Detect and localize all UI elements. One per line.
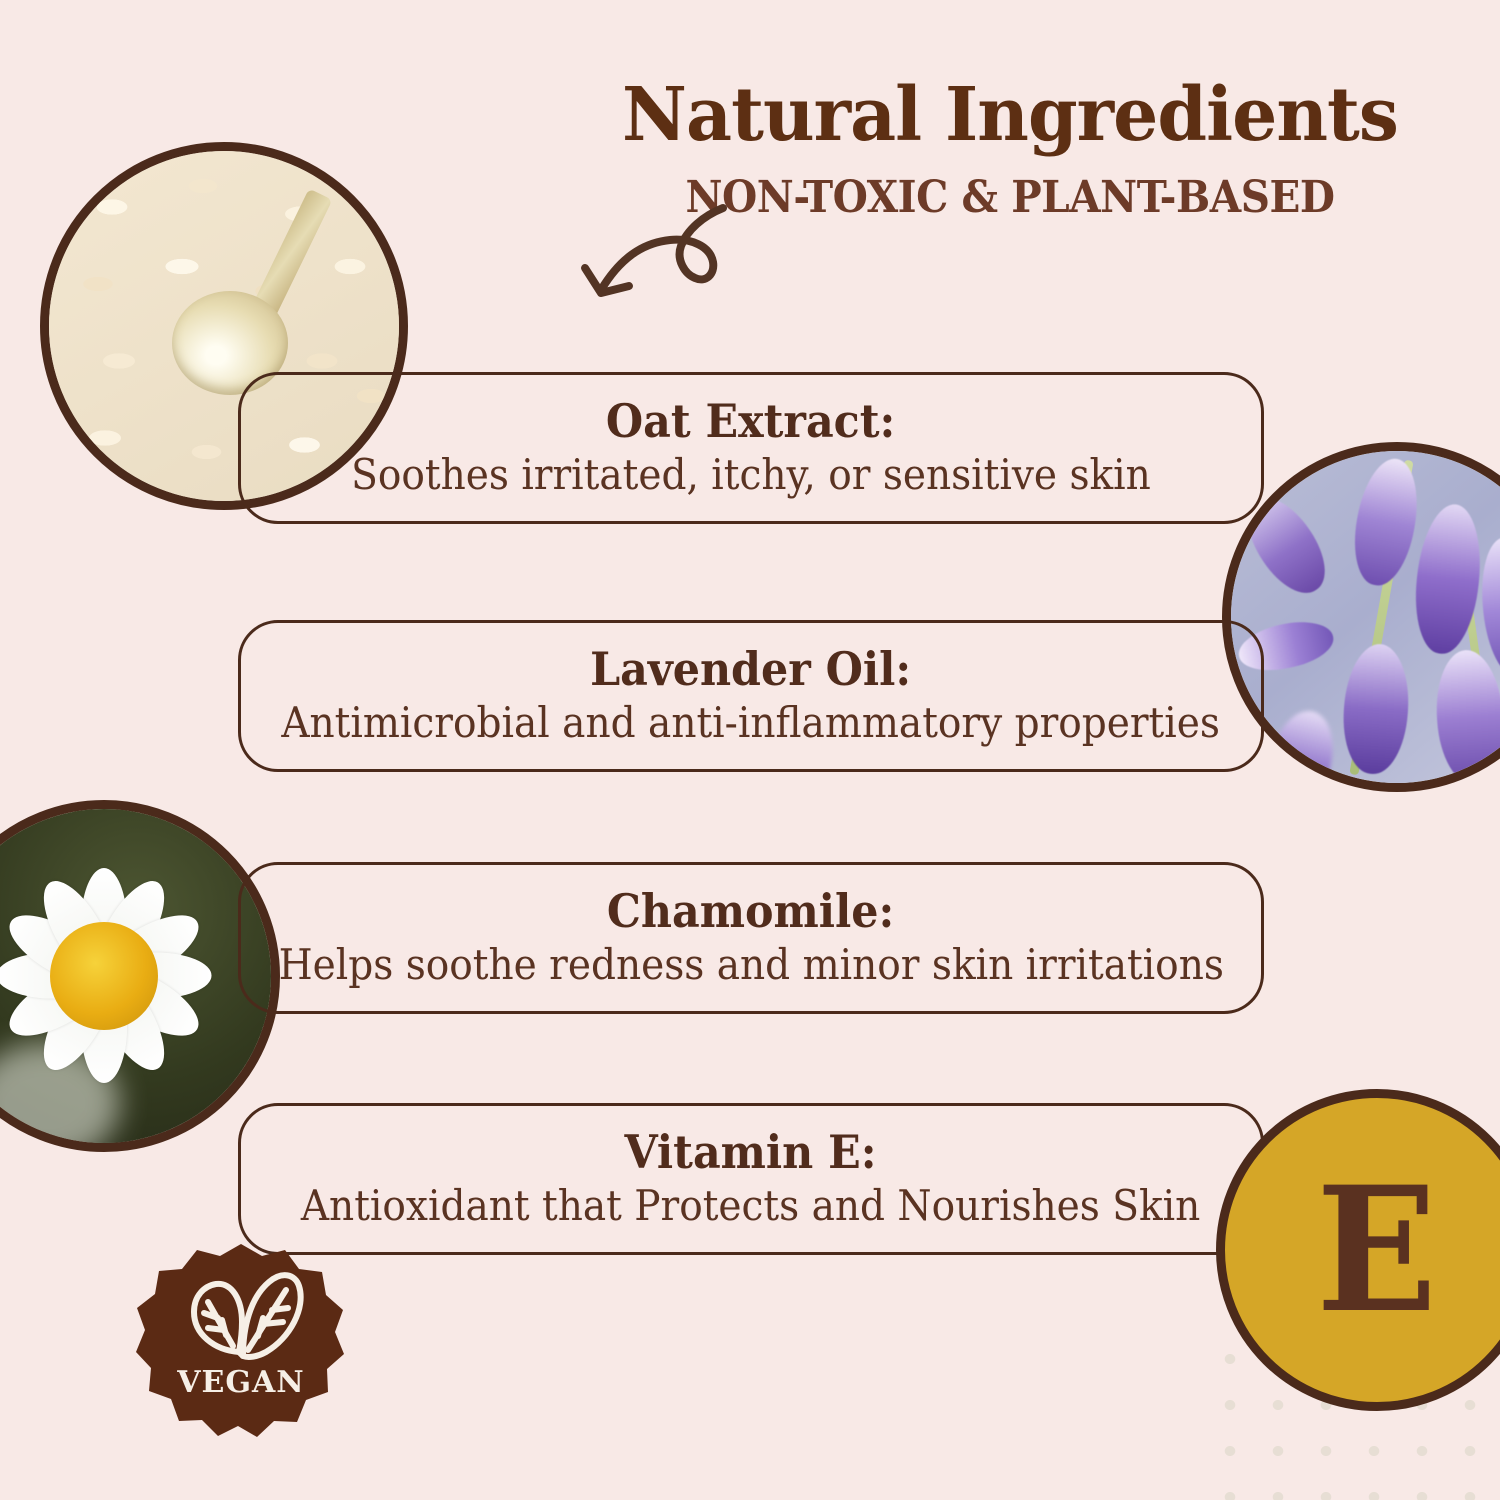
flower-center xyxy=(50,922,158,1030)
infographic-canvas: Natural Ingredients NON-TOXIC & PLANT-BA… xyxy=(0,0,1500,1500)
curved-loop-arrow-icon xyxy=(575,198,735,318)
ingredient-card-lavender-oil: Lavender Oil: Antimicrobial and anti-inf… xyxy=(238,620,1264,772)
vegan-badge: VEGAN xyxy=(136,1242,346,1454)
ingredient-name: Vitamin E: xyxy=(625,1127,877,1179)
vegan-badge-shape xyxy=(136,1242,346,1454)
ingredient-image-lavender xyxy=(1222,442,1500,792)
vitamin-e-letter: E xyxy=(1317,1164,1438,1336)
page-title: Natural Ingredients xyxy=(578,78,1442,152)
ingredient-description: Antimicrobial and anti-inflammatory prop… xyxy=(282,698,1221,748)
ingredient-name: Oat Extract: xyxy=(606,396,895,448)
ingredient-description: Antioxidant that Protects and Nourishes … xyxy=(301,1181,1200,1231)
ingredient-card-chamomile: Chamomile: Helps soothe redness and mino… xyxy=(238,862,1264,1014)
ingredient-description: Helps soothe redness and minor skin irri… xyxy=(278,940,1223,990)
vegan-label: VEGAN xyxy=(136,1365,346,1400)
ingredient-name: Lavender Oil: xyxy=(590,644,911,696)
ingredient-description: Soothes irritated, itchy, or sensitive s… xyxy=(351,450,1151,500)
ingredient-card-vitamin-e: Vitamin E: Antioxidant that Protects and… xyxy=(238,1103,1264,1255)
ingredient-name: Chamomile: xyxy=(607,886,894,938)
ingredient-card-oat-extract: Oat Extract: Soothes irritated, itchy, o… xyxy=(238,372,1264,524)
